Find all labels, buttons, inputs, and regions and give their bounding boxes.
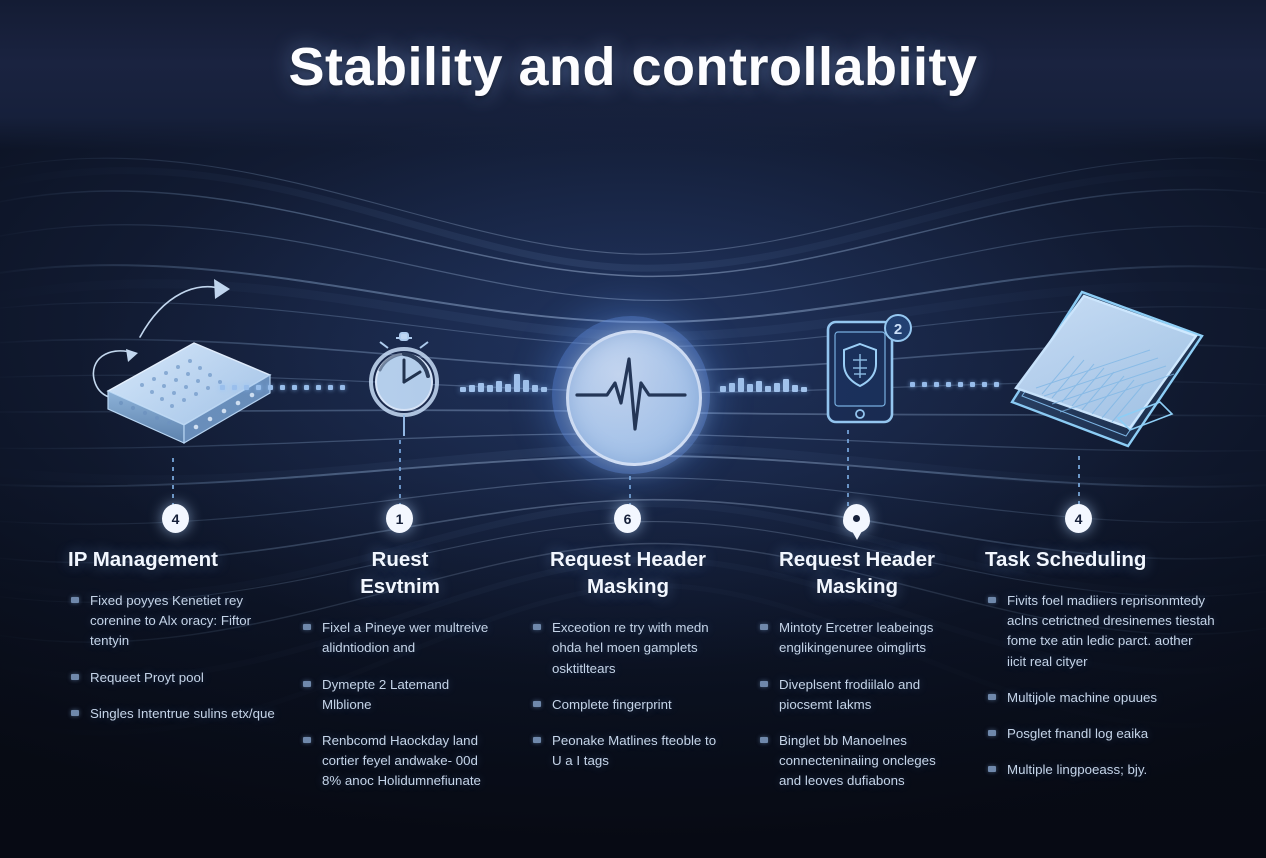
stopwatch-icon bbox=[358, 330, 450, 440]
list-item: Mintoty Ercetrer leabeings englikingenur… bbox=[757, 618, 957, 658]
column-request-header-masking-2: Request HeaderMasking Mintoty Ercetrer l… bbox=[757, 498, 957, 808]
list-item: Multiple lingpoeass; bjy. bbox=[985, 760, 1215, 780]
bullet-list: Mintoty Ercetrer leabeings englikingenur… bbox=[757, 618, 957, 791]
page-title: Stability and controllabiity bbox=[0, 36, 1266, 98]
columns-container: 4 IP Management Fixed poyyes Kenetiet re… bbox=[0, 498, 1266, 858]
column-request-header-masking-1: 6 Request HeaderMasking Exceotion re try… bbox=[530, 498, 726, 787]
list-item: Fixed poyyes Kenetiet rey corenine to Al… bbox=[68, 591, 283, 652]
connector-dots-router-stopwatch bbox=[220, 385, 350, 393]
badge-icon-4-second: 4 bbox=[1065, 504, 1092, 533]
pulse-waveform-icon bbox=[552, 316, 710, 474]
list-item: Multijole machine opuues bbox=[985, 688, 1215, 708]
column-heading: Request HeaderMasking bbox=[757, 546, 957, 600]
list-item: Fivits foel madiiers reprisonmtedy aclns… bbox=[985, 591, 1215, 672]
list-item: Singles Intentrue sulins etx/que bbox=[68, 704, 283, 724]
connector-equalizer-pulse-tablet bbox=[720, 368, 810, 392]
pulse-disc bbox=[566, 330, 702, 466]
map-pin-icon bbox=[843, 504, 870, 533]
bullet-list: Fixed poyyes Kenetiet rey corenine to Al… bbox=[68, 591, 283, 724]
column-ip-management: 4 IP Management Fixed poyyes Kenetiet re… bbox=[68, 498, 283, 740]
badge-icon-1: 1 bbox=[386, 504, 413, 533]
list-item: Renbcomd Haockday land cortier feyel and… bbox=[300, 731, 500, 792]
list-item: Diveplsent frodiilalo and piocsemt Iakms bbox=[757, 675, 957, 715]
column-heading: IP Management bbox=[68, 546, 283, 573]
list-item: Peonake Matlines fteoble to U a I tags bbox=[530, 731, 726, 771]
column-heading: RuestEsvtnim bbox=[300, 546, 500, 600]
bullet-list: Fixel a Pineye wer multreive alidntiodio… bbox=[300, 618, 500, 791]
connector-dots-tablet-laptop bbox=[910, 382, 1006, 390]
column-ruest-esvtnim: 1 RuestEsvtnim Fixel a Pineye wer multre… bbox=[300, 498, 500, 808]
badge-icon-6: 6 bbox=[614, 504, 641, 533]
laptop-icon bbox=[1000, 290, 1230, 450]
infographic-canvas: Stability and controllabiity bbox=[0, 0, 1266, 858]
tablet-shield-icon: 2 bbox=[818, 308, 904, 428]
illustration-band: 2 bbox=[0, 190, 1266, 510]
badge-icon-4: 4 bbox=[162, 504, 189, 533]
column-task-scheduling: 4 Task Scheduling Fivits foel madiiers r… bbox=[985, 498, 1215, 796]
bullet-list: Exceotion re try with medn ohda hel moen… bbox=[530, 618, 726, 771]
list-item: Fixel a Pineye wer multreive alidntiodio… bbox=[300, 618, 500, 658]
column-heading: Task Scheduling bbox=[985, 546, 1215, 573]
list-item: Posglet fnandl log eaika bbox=[985, 724, 1215, 744]
tablet-notification-badge: 2 bbox=[894, 321, 902, 338]
network-switch-icon bbox=[72, 275, 302, 445]
list-item: Exceotion re try with medn ohda hel moen… bbox=[530, 618, 726, 679]
list-item: Binglet bb Manoelnes connecteninaiing on… bbox=[757, 731, 957, 792]
map-pin-dot bbox=[853, 515, 860, 522]
list-item: Requeet Proyt pool bbox=[68, 668, 283, 688]
column-heading: Request HeaderMasking bbox=[530, 546, 726, 600]
list-item: Complete fingerprint bbox=[530, 695, 726, 715]
list-item: Dymepte 2 Latemand Mlblione bbox=[300, 675, 500, 715]
connector-equalizer-stopwatch-pulse bbox=[460, 368, 550, 392]
bullet-list: Fivits foel madiiers reprisonmtedy aclns… bbox=[985, 591, 1215, 780]
